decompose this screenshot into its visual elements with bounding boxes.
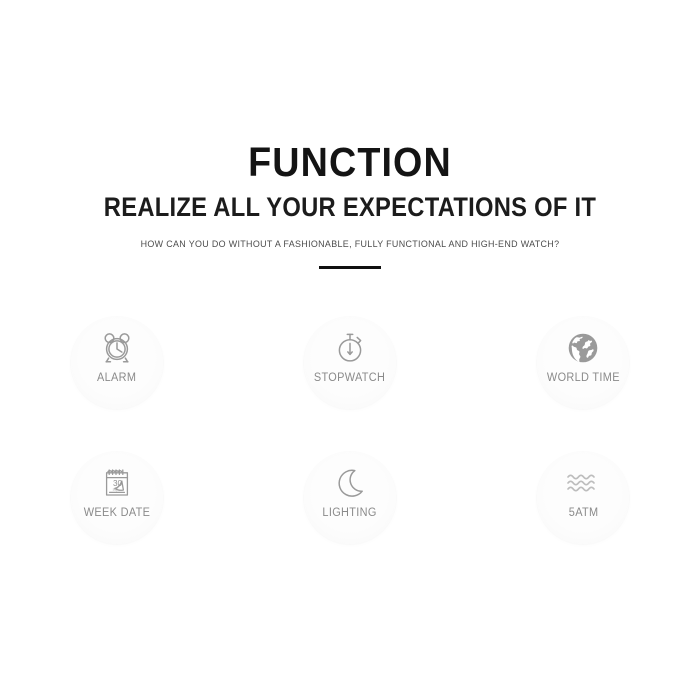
feature-bubble-world-time[interactable]: WORLD TIME [537, 317, 629, 409]
tear-off-calendar-icon: 30 sep [100, 466, 134, 500]
feature-cell-lighting: LIGHTING [238, 452, 462, 587]
feature-label: 5ATM [568, 507, 598, 519]
globe-icon [567, 331, 599, 365]
feature-cell-5atm: 5ATM [471, 452, 695, 587]
feature-cell-stopwatch: STOPWATCH [238, 317, 462, 452]
water-waves-icon [566, 466, 600, 500]
feature-bubble-alarm[interactable]: ALARM [71, 317, 163, 409]
feature-cell-week-date: 30 sep WEEK DATE [5, 452, 229, 587]
feature-bubble-stopwatch[interactable]: STOPWATCH [304, 317, 396, 409]
alarm-clock-icon [100, 331, 134, 365]
page-title: FUNCTION [28, 140, 672, 184]
header-divider [319, 266, 381, 269]
feature-label: WEEK DATE [83, 507, 150, 519]
feature-bubble-lighting[interactable]: LIGHTING [304, 452, 396, 544]
feature-label: ALARM [97, 372, 136, 384]
header-block: FUNCTION REALIZE ALL YOUR EXPECTATIONS O… [0, 140, 700, 269]
feature-bubble-week-date[interactable]: 30 sep WEEK DATE [71, 452, 163, 544]
feature-bubble-5atm[interactable]: 5ATM [537, 452, 629, 544]
feature-cell-world-time: WORLD TIME [471, 317, 695, 452]
feature-label: LIGHTING [323, 507, 377, 519]
divider-wrapper [0, 266, 700, 269]
page-tagline: HOW CAN YOU DO WITHOUT A FASHIONABLE, FU… [11, 239, 690, 249]
page-subtitle: REALIZE ALL YOUR EXPECTATIONS OF IT [42, 193, 658, 223]
feature-label: WORLD TIME [547, 372, 620, 384]
feature-cell-alarm: ALARM [5, 317, 229, 452]
stopwatch-icon [333, 331, 367, 365]
feature-label: STOPWATCH [314, 372, 385, 384]
crescent-moon-icon [334, 466, 366, 500]
feature-grid: ALARM STOPWATCH [0, 317, 700, 587]
calendar-month-text: sep [112, 488, 118, 492]
function-features-page: FUNCTION REALIZE ALL YOUR EXPECTATIONS O… [0, 0, 700, 700]
